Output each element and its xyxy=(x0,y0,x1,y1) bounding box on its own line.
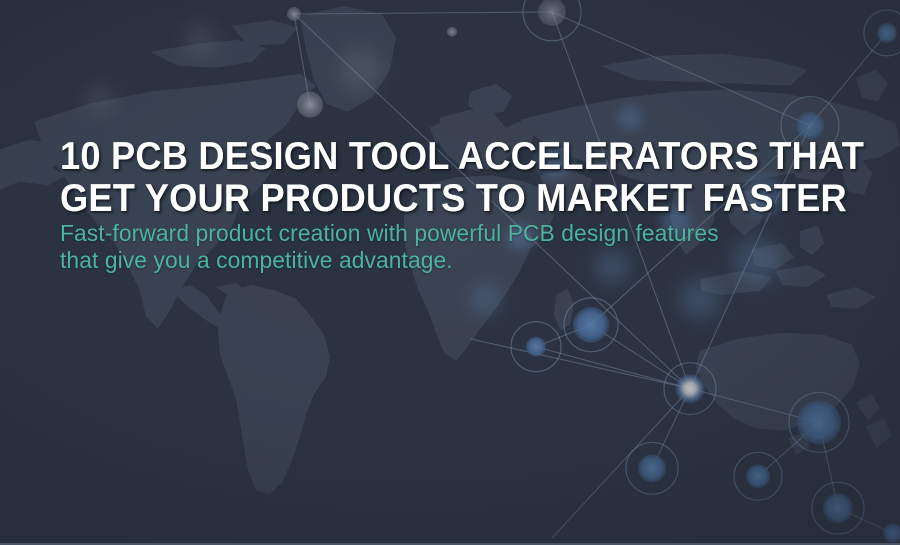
title-line-1: 10 PCB Design Tool Accelerators That xyxy=(60,136,804,178)
node-core-blue xyxy=(573,307,609,343)
node-core-blue xyxy=(883,523,900,543)
node-core-gray xyxy=(538,0,566,26)
link-line xyxy=(552,389,690,538)
subtitle-line-1: Fast-forward product creation with power… xyxy=(60,220,836,247)
link-line xyxy=(536,347,690,389)
title-line-2: Get Your Products To Market Faster xyxy=(60,178,804,220)
node-core-hub xyxy=(675,374,705,404)
link-line xyxy=(810,33,887,126)
hero-text-block: 10 PCB Design Tool Accelerators That Get… xyxy=(60,136,860,274)
subtitle-line-2: that give you a competitive advantage. xyxy=(60,247,836,274)
node-core-blue xyxy=(746,464,770,488)
node-core-gray xyxy=(297,92,323,118)
page-subtitle: Fast-forward product creation with power… xyxy=(60,220,860,274)
node-core-blue xyxy=(797,401,841,445)
link-line xyxy=(470,339,690,389)
node-core-blue xyxy=(638,454,666,482)
node-core-blue xyxy=(823,493,853,523)
node-core-blue xyxy=(877,23,897,43)
link-line xyxy=(294,12,552,14)
node-core-blue xyxy=(526,337,546,357)
hero-banner: 10 PCB Design Tool Accelerators That Get… xyxy=(0,0,900,545)
node-core-gray xyxy=(447,27,457,37)
link-line xyxy=(552,12,810,126)
node-core-gray xyxy=(287,7,301,21)
page-title: 10 PCB Design Tool Accelerators That Get… xyxy=(60,136,860,220)
network-links xyxy=(294,12,893,538)
